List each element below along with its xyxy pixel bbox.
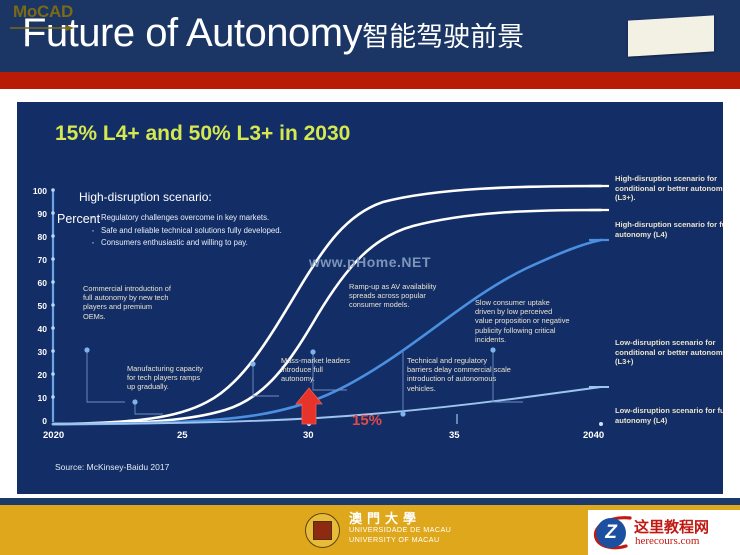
callout-dot [310, 349, 315, 354]
legend-label-low-l4: Low-disruption scenario for full autonom… [615, 406, 723, 425]
marker-label-15pct: 15% [352, 412, 382, 429]
university-branding: 澳門大學 UNIVERSIDADE DE MACAU UNIVERSITY OF… [305, 511, 451, 549]
callout-commercial-introduction: Commercial introduction of full autonomy… [83, 284, 173, 321]
slide-body: 15% L4+ and 50% L3+ in 2030 High-disrupt… [0, 98, 740, 498]
callout-technical-barriers: Technical and regulatory barriers delay … [407, 356, 511, 393]
callout-dot [490, 347, 495, 352]
callout-slow-uptake: Slow consumer uptake driven by low perce… [475, 298, 571, 344]
watermark-url: herecours.com [635, 535, 699, 547]
page-title-cn: 智能驾驶前景 [362, 22, 524, 52]
mocad-logo [628, 15, 714, 56]
callout-dot [400, 411, 405, 416]
z-logo-icon: Z [596, 518, 626, 548]
legend-label-low-l3: Low-disruption scenario for conditional … [615, 338, 723, 367]
x-tick-label: 25 [177, 430, 188, 441]
callout-dot [132, 399, 137, 404]
university-name-cn: 澳門大學 [349, 514, 451, 525]
x-tick-label: 2040 [583, 430, 604, 441]
leader-manufacturing [135, 402, 163, 414]
callout-manufacturing-capacity: Manufacturing capacity for tech players … [127, 364, 203, 392]
header-red-divider [0, 72, 740, 89]
leader-commercial [87, 350, 125, 402]
x-tick-label: 2020 [43, 430, 64, 441]
header-white-gap [0, 89, 740, 98]
watermark-herecours: Z 这里教程网 herecours.com [588, 510, 740, 555]
mocad-arrow-icon [10, 25, 74, 31]
watermark-center: www.pHome.NET [309, 254, 431, 270]
university-names: 澳門大學 UNIVERSIDADE DE MACAU UNIVERSITY OF… [349, 514, 451, 546]
legend-label-high-l4: High-disruption scenario for full autono… [615, 220, 723, 239]
chart-panel: 15% L4+ and 50% L3+ in 2030 High-disrupt… [17, 102, 723, 494]
x-tick-label: 35 [449, 430, 460, 441]
source-citation: Source: McKinsey-Baidu 2017 [55, 462, 169, 472]
university-name-pt: UNIVERSIDADE DE MACAU [349, 525, 451, 536]
callout-ramp-up-av: Ramp-up as AV availability spreads acros… [349, 282, 437, 310]
university-name-en: UNIVERSITY OF MACAU [349, 535, 451, 546]
legend-label-high-l3: High-disruption scenario for conditional… [615, 174, 723, 203]
mocad-logo-label: MoCAD [0, 2, 86, 22]
university-crest-icon [305, 513, 340, 548]
page-title: Future of Autonomy智能驾驶前景 [22, 11, 524, 56]
slide-header: Future of Autonomy智能驾驶前景 MoCAD [0, 0, 740, 72]
callout-dot [84, 347, 89, 352]
callout-mass-market: Mass-market leaders introduce full auton… [281, 356, 355, 384]
callout-dot [250, 361, 255, 366]
x-tick-label: 30 [303, 430, 314, 441]
leader-massmarket [253, 364, 279, 396]
watermark-label-cn: 这里教程网 [634, 516, 709, 537]
